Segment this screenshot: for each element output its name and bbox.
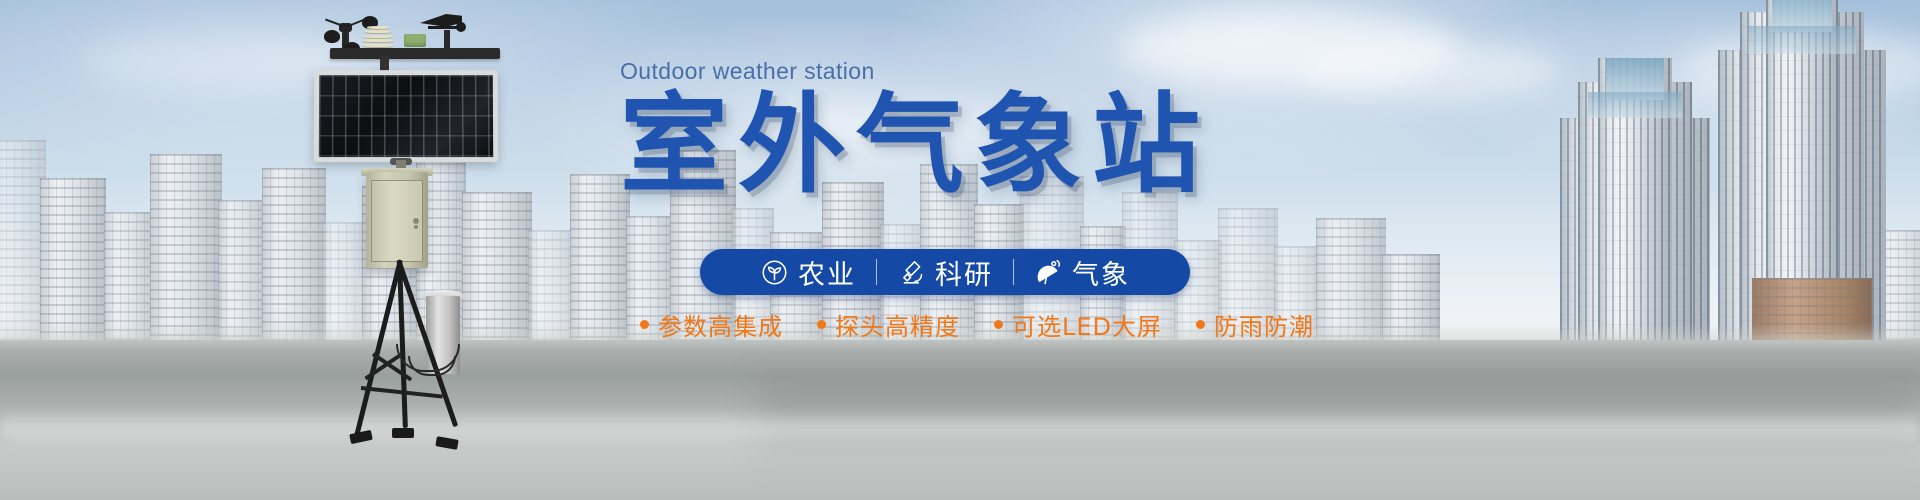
radiation-shield (362, 26, 394, 50)
pill-label: 气象 (1072, 253, 1130, 292)
feature-item: 探头高精度 (817, 307, 960, 342)
tripod-foot (392, 428, 414, 438)
pill-item-agriculture[interactable]: 农业 (740, 253, 876, 292)
feature-item: 参数高集成 (640, 307, 783, 342)
solar-panel (314, 70, 498, 162)
pill-label: 农业 (798, 253, 856, 292)
cross-arm (330, 48, 500, 59)
feature-item: 防雨防潮 (1196, 307, 1314, 342)
tripod-foot (435, 436, 458, 450)
satellite-dish-icon (1034, 258, 1063, 287)
feature-label: 参数高集成 (658, 307, 783, 342)
feature-list: 参数高集成 探头高精度 可选LED大屏 防雨防潮 (640, 307, 1314, 342)
feature-label: 防雨防潮 (1214, 307, 1314, 342)
wind-vane-nose (456, 22, 466, 32)
tripod-foot (349, 430, 373, 444)
bullet-dot-icon (994, 320, 1003, 329)
cloud-shape (1300, 40, 1560, 100)
pill-label: 科研 (935, 253, 993, 292)
bullet-dot-icon (817, 320, 826, 329)
bullet-dot-icon (640, 320, 649, 329)
control-cabinet (366, 172, 428, 268)
skyscraper-left (1560, 50, 1710, 350)
ground-sheen (0, 410, 1920, 448)
wind-vane-post (444, 30, 450, 50)
wind-vane-arm (428, 26, 458, 29)
feature-item: 可选LED大屏 (994, 307, 1162, 342)
eyebrow-text: Outdoor weather station (620, 58, 1320, 85)
anemometer-cup (324, 30, 340, 43)
page-title: 室外气象站 (620, 91, 1320, 201)
pill-item-research[interactable]: 科研 (877, 253, 1013, 292)
product-banner: Outdoor weather station 室外气象站 农业 科研 (0, 0, 1920, 500)
pill-item-meteorology[interactable]: 气象 (1014, 253, 1150, 292)
solar-cells (319, 75, 493, 157)
feature-label: 探头高精度 (835, 307, 960, 342)
headline-block: Outdoor weather station 室外气象站 (620, 58, 1320, 201)
building (150, 154, 222, 350)
feature-label: 可选LED大屏 (1012, 307, 1162, 342)
weather-station-product (300, 8, 560, 488)
application-pill: 农业 科研 气象 (700, 249, 1190, 295)
bullet-dot-icon (1196, 320, 1205, 329)
cabinet-lock-icon (413, 218, 419, 224)
plant-sprout-icon (760, 258, 789, 287)
sensor-box (404, 34, 426, 47)
microscope-icon (897, 258, 926, 287)
